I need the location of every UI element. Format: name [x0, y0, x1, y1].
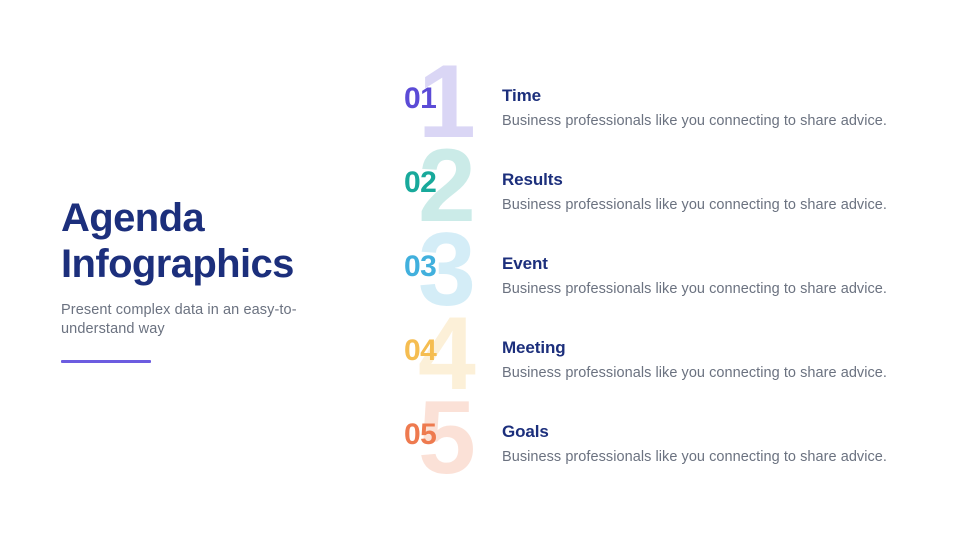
item-description-3: Business professionals like you connecti…	[502, 280, 950, 299]
item-title-4: Meeting	[502, 337, 950, 358]
item-text-4: Meeting Business professionals like you …	[502, 314, 950, 383]
slide-subtitle: Present complex data in an easy-to-under…	[61, 301, 301, 339]
item-description-2: Business professionals like you connecti…	[502, 196, 950, 215]
accent-underline	[61, 360, 151, 363]
item-title-1: Time	[502, 85, 950, 106]
item-number-2: 02	[404, 168, 436, 198]
item-description-1: Business professionals like you connecti…	[502, 112, 950, 131]
left-title-panel: Agenda Infographics Present complex data…	[61, 195, 361, 363]
item-description-5: Business professionals like you connecti…	[502, 448, 950, 467]
item-text-3: Event Business professionals like you co…	[502, 230, 950, 299]
item-text-2: Results Business professionals like you …	[502, 146, 950, 215]
item-text-1: Time Business professionals like you con…	[502, 62, 950, 131]
list-item[interactable]: 3 03 Event Business professionals like y…	[390, 230, 950, 314]
item-text-5: Goals Business professionals like you co…	[502, 398, 950, 467]
page-title: Agenda Infographics	[61, 195, 361, 287]
item-title-5: Goals	[502, 421, 950, 442]
list-item[interactable]: 2 02 Results Business professionals like…	[390, 146, 950, 230]
agenda-list: 1 01 Time Business professionals like yo…	[390, 62, 950, 482]
list-item[interactable]: 1 01 Time Business professionals like yo…	[390, 62, 950, 146]
item-number-3: 03	[404, 252, 436, 282]
item-number-5: 05	[404, 420, 436, 450]
item-title-2: Results	[502, 169, 950, 190]
list-item[interactable]: 5 05 Goals Business professionals like y…	[390, 398, 950, 482]
list-item[interactable]: 4 04 Meeting Business professionals like…	[390, 314, 950, 398]
number-badge-5: 5 05	[390, 398, 502, 482]
item-number-1: 01	[404, 84, 436, 114]
item-title-3: Event	[502, 253, 950, 274]
item-number-4: 04	[404, 336, 436, 366]
agenda-infographics-slide: Agenda Infographics Present complex data…	[0, 0, 980, 551]
item-description-4: Business professionals like you connecti…	[502, 364, 950, 383]
